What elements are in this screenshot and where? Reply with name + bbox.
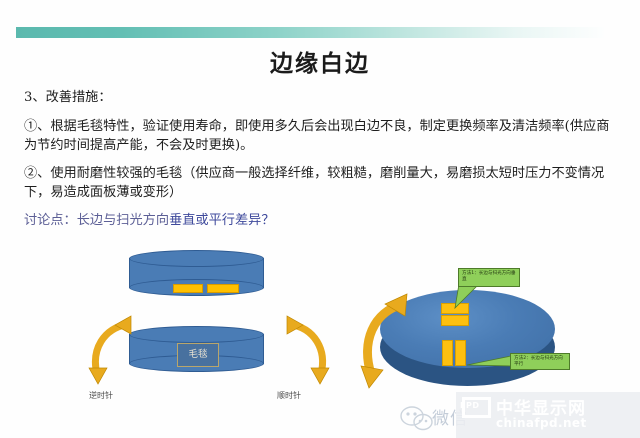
measure-item-1: ①、根据毛毯特性，验证使用寿命，即使用多久后会出现白边不良，制定更换频率及清洁频…: [24, 117, 620, 155]
callout-perpendicular: 方法1：长边与扫光方向垂直: [458, 268, 520, 287]
callout-bottom-tail: [467, 354, 513, 368]
felt-label-box: 毛毯: [177, 343, 219, 367]
discussion-line: 讨论点：长边与扫光方向垂直或平行差异？: [24, 211, 620, 230]
wechat-logo-icon: [400, 406, 434, 432]
body-text-block: 3、改善措施： ①、根据毛毯特性，验证使用寿命，即使用多久后会出现白边不良，制定…: [24, 88, 620, 239]
yellow-pad-left: [173, 284, 203, 293]
disc-pad-vertical-1: [442, 340, 453, 366]
title-accent-bar: [16, 27, 604, 38]
watermark-site-url: chinafpd.net: [496, 416, 587, 430]
fpd-logo-label: FPD: [460, 401, 479, 410]
measure-item-2: ②、使用耐磨性较强的毛毯（供应商一般选择纤维，较粗糙，磨削量大，易磨损太短时压力…: [24, 164, 620, 202]
clockwise-label: 顺时针: [277, 390, 301, 401]
lower-cylinder-top-face: [129, 326, 264, 343]
watermark: 微信 FPD 中华显示网 chinafpd.net: [398, 392, 640, 438]
disc-pad-horizontal-2: [441, 315, 469, 326]
diagram-cylinder-pair: 毛毯 逆时针 顺时针: [85, 248, 325, 426]
clockwise-arrow-icon: [273, 312, 333, 392]
slide-canvas: 边缘白边 3、改善措施： ①、根据毛毯特性，验证使用寿命，即使用多久后会出现白边…: [0, 0, 640, 438]
disc-rotation-arrow-icon: [355, 290, 425, 395]
discussion-prefix: 讨论点：长边与扫光方向: [24, 213, 169, 228]
callout-top-tail: [453, 284, 485, 310]
counterclockwise-arrow-icon: [85, 312, 145, 392]
disc-pad-vertical-2: [455, 340, 466, 366]
counterclockwise-label: 逆时针: [89, 390, 113, 401]
upper-cylinder-top-face: [129, 250, 264, 267]
page-title: 边缘白边: [0, 44, 640, 78]
yellow-pad-right: [207, 284, 239, 293]
discussion-emphasis: 垂直或平行差异？: [169, 213, 275, 228]
measures-heading: 3、改善措施：: [24, 88, 620, 107]
callout-parallel: 方法2：长边与扫光方向平行: [510, 353, 570, 370]
